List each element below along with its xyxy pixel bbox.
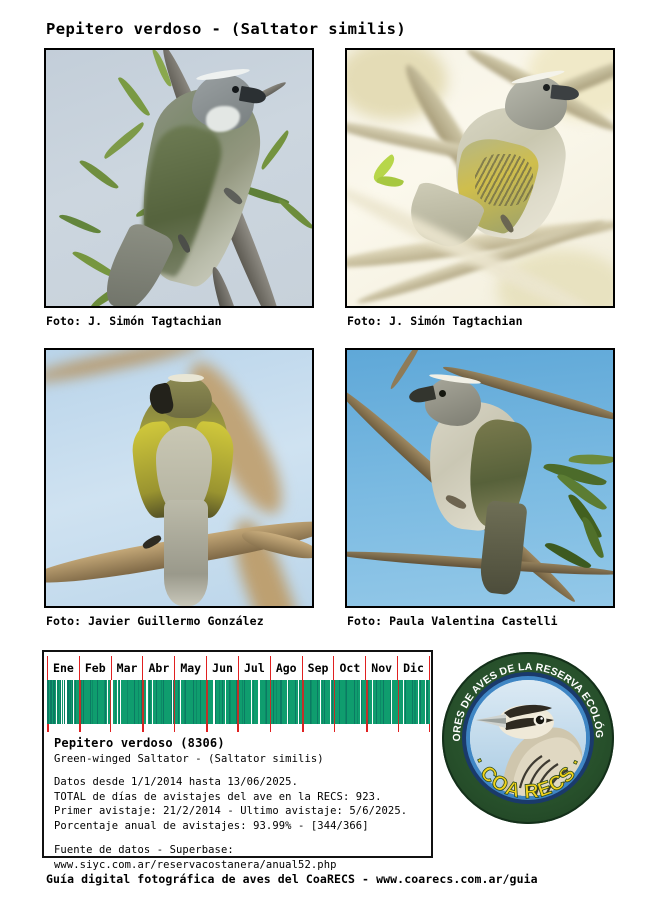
photo-1-image	[46, 50, 312, 306]
month-tick	[237, 724, 239, 732]
month-header-row: EneFebMarAbrMayJunJulAgoSepOctNovDic	[47, 656, 430, 680]
bird-eye	[232, 86, 239, 93]
month-tick-marks	[47, 724, 430, 732]
bird-tail	[164, 500, 208, 606]
bird-head	[505, 76, 567, 130]
month-separator-line	[334, 680, 336, 724]
month-tick	[206, 724, 208, 732]
day-bar-present	[429, 680, 430, 724]
photo-1[interactable]	[44, 48, 314, 308]
daily-sightings-chart	[47, 680, 430, 724]
svg-text:CLUB DE OBSERVADORES DE AVES D: CLUB DE OBSERVADORES DE AVES DE LA RESER…	[442, 652, 606, 742]
coa-recs-logo[interactable]: CLUB DE OBSERVADORES DE AVES DE LA RESER…	[442, 652, 614, 824]
page-title: Pepitero verdoso - (Saltator similis)	[46, 20, 406, 38]
month-header-abr: Abr	[142, 656, 174, 680]
photo-3-caption: Foto: Javier Guillermo González	[46, 614, 264, 628]
month-separator-line	[398, 680, 400, 724]
month-tick	[174, 724, 176, 732]
species-name-spanish: Pepitero verdoso (8306)	[54, 736, 426, 750]
month-tick	[302, 724, 304, 732]
month-header-sep: Sep	[302, 656, 334, 680]
month-separator-line	[366, 680, 368, 724]
month-tick	[366, 724, 368, 732]
photo-1-caption: Foto: J. Simón Tagtachian	[46, 314, 222, 328]
photo-4-image	[347, 350, 613, 606]
total-days-line: TOTAL de días de avistajes del ave en la…	[54, 790, 426, 805]
species-info: Pepitero verdoso (8306) Green-winged Sal…	[54, 736, 426, 872]
bird-head	[425, 378, 481, 426]
month-tick	[142, 724, 144, 732]
month-header-mar: Mar	[111, 656, 143, 680]
logo-circular-text: CLUB DE OBSERVADORES DE AVES DE LA RESER…	[442, 652, 614, 824]
source-url[interactable]: www.siyc.com.ar/reservacostanera/anual52…	[54, 858, 426, 873]
month-separator-line	[270, 680, 272, 724]
month-tick	[79, 724, 81, 732]
month-separator-line	[237, 680, 239, 724]
data-range-line: Datos desde 1/1/2014 hasta 13/06/2025.	[54, 775, 426, 790]
month-header-may: May	[174, 656, 206, 680]
month-tick	[47, 724, 49, 732]
sightings-panel: EneFebMarAbrMayJunJulAgoSepOctNovDic Pep…	[42, 650, 433, 858]
month-separator-line	[79, 680, 81, 724]
bird-wing-shadow	[475, 154, 533, 206]
photo-3[interactable]	[44, 348, 314, 608]
month-separator-line	[174, 680, 176, 724]
first-last-sighting-line: Primer avistaje: 21/2/2014 - Ultimo avis…	[54, 804, 426, 819]
month-header-ago: Ago	[270, 656, 302, 680]
species-name-english: Green-winged Saltator - (Saltator simili…	[54, 753, 426, 765]
month-separator-line	[110, 680, 112, 724]
month-separator-line	[302, 680, 304, 724]
month-tick	[334, 724, 336, 732]
photo-3-image	[46, 350, 312, 606]
annual-percentage-line: Porcentaje anual de avistajes: 93.99% - …	[54, 819, 426, 834]
month-header-oct: Oct	[333, 656, 365, 680]
month-header-feb: Feb	[79, 656, 111, 680]
guide-page: Pepitero verdoso - (Saltator similis)	[0, 0, 660, 910]
month-tick	[110, 724, 112, 732]
month-separator-line	[206, 680, 208, 724]
spacer	[54, 833, 426, 843]
source-label: Fuente de datos - Superbase:	[54, 843, 426, 858]
bird-eye	[543, 84, 550, 91]
page-footer: Guía digital fotográfica de aves del Coa…	[46, 872, 538, 886]
month-tick	[270, 724, 272, 732]
month-header-nov: Nov	[365, 656, 397, 680]
month-separator-line	[142, 680, 144, 724]
photo-2-caption: Foto: J. Simón Tagtachian	[347, 314, 523, 328]
photo-2[interactable]	[345, 48, 615, 308]
month-header-jul: Jul	[238, 656, 270, 680]
photo-4[interactable]	[345, 348, 615, 608]
month-tick	[398, 724, 400, 732]
svg-text:· COA RECS ·: · COA RECS ·	[468, 753, 588, 803]
photo-4-caption: Foto: Paula Valentina Castelli	[347, 614, 558, 628]
month-tick	[429, 724, 431, 732]
month-header-ene: Ene	[47, 656, 79, 680]
photo-2-image	[347, 50, 613, 306]
month-header-dic: Dic	[397, 656, 430, 680]
bird-eye	[439, 390, 446, 397]
month-header-jun: Jun	[206, 656, 238, 680]
bird-nape-stripe	[168, 374, 204, 382]
